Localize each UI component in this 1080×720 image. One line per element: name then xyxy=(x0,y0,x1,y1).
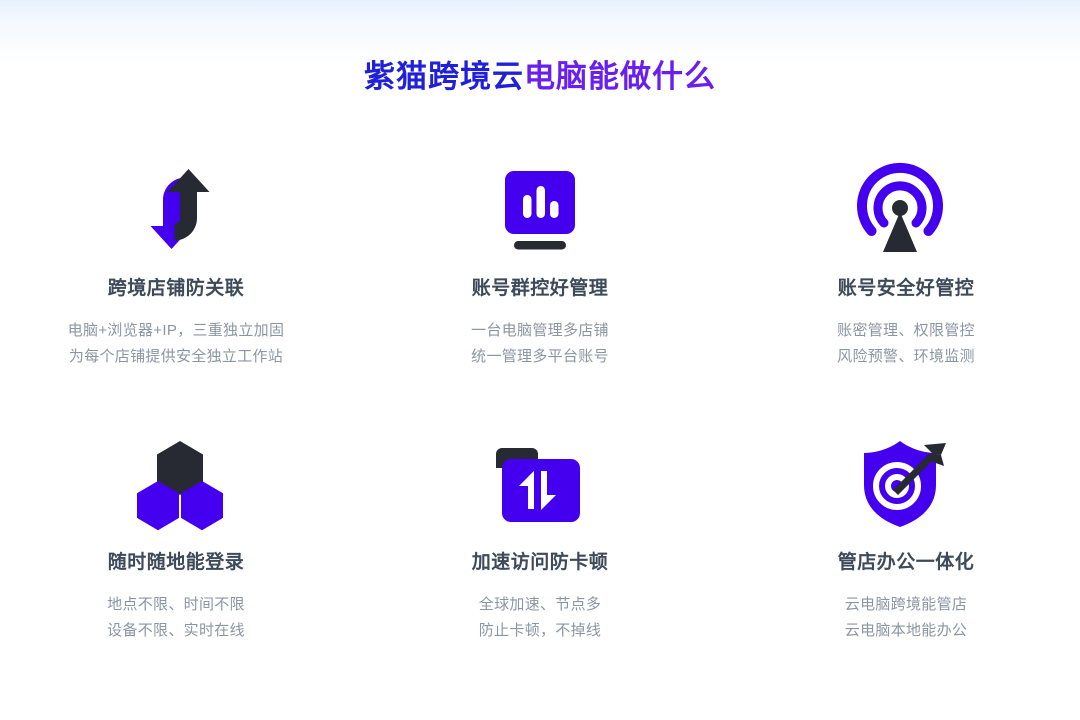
feature-desc-line-2: 防止卡顿，不掉线 xyxy=(479,618,601,644)
monitor-bar-chart-icon xyxy=(488,157,592,261)
page-title-part-2: 电脑能做什么 xyxy=(524,59,716,94)
feature-desc-line-1: 一台电脑管理多店铺 xyxy=(471,318,609,344)
feature-desc-line-1: 地点不限、时间不限 xyxy=(107,592,245,618)
feature-desc-line-1: 账密管理、权限管控 xyxy=(837,318,975,344)
feature-desc-line-1: 全球加速、节点多 xyxy=(479,592,601,618)
feature-desc-line-2: 设备不限、实时在线 xyxy=(107,618,245,644)
feature-description: 全球加速、节点多 防止卡顿，不掉线 xyxy=(479,592,601,644)
feature-description: 地点不限、时间不限 设备不限、实时在线 xyxy=(107,592,245,644)
feature-card-acceleration[interactable]: 加速访问防卡顿 全球加速、节点多 防止卡顿，不掉线 xyxy=(360,431,720,705)
feature-card-account-group-control[interactable]: 账号群控好管理 一台电脑管理多店铺 统一管理多平台账号 xyxy=(360,157,720,431)
feature-description: 一台电脑管理多店铺 统一管理多平台账号 xyxy=(471,318,609,370)
feature-description: 云电脑跨境能管店 云电脑本地能办公 xyxy=(845,592,967,644)
feature-title: 管店办公一体化 xyxy=(838,551,975,576)
feature-title: 跨境店铺防关联 xyxy=(108,277,245,302)
feature-title: 随时随地能登录 xyxy=(108,551,245,576)
feature-desc-line-2: 为每个店铺提供安全独立工作站 xyxy=(68,344,285,370)
folder-transfer-icon xyxy=(488,431,592,535)
feature-card-account-security[interactable]: 账号安全好管控 账密管理、权限管控 风险预警、环境监测 xyxy=(720,157,1080,431)
feature-card-login-anywhere[interactable]: 随时随地能登录 地点不限、时间不限 设备不限、实时在线 xyxy=(0,431,360,705)
hexagon-cluster-icon xyxy=(128,431,232,535)
feature-title: 账号群控好管理 xyxy=(472,277,609,302)
page-title-part-1: 紫猫跨境云 xyxy=(364,59,524,94)
feature-desc-line-1: 电脑+浏览器+IP，三重独立加固 xyxy=(68,318,285,344)
shield-target-dart-icon xyxy=(848,431,952,535)
feature-desc-line-2: 统一管理多平台账号 xyxy=(471,344,609,370)
feature-card-anti-association[interactable]: 跨境店铺防关联 电脑+浏览器+IP，三重独立加固 为每个店铺提供安全独立工作站 xyxy=(0,157,360,431)
feature-description: 电脑+浏览器+IP，三重独立加固 为每个店铺提供安全独立工作站 xyxy=(68,318,285,370)
feature-desc-line-1: 云电脑跨境能管店 xyxy=(845,592,967,618)
feature-section: 紫猫跨境云电脑能做什么 跨境店铺防关联 电脑+浏览器+IP，三重独立加固 为每个… xyxy=(0,0,1080,720)
feature-desc-line-2: 风险预警、环境监测 xyxy=(837,344,975,370)
feature-card-integrated-office[interactable]: 管店办公一体化 云电脑跨境能管店 云电脑本地能办公 xyxy=(720,431,1080,705)
feature-title: 账号安全好管控 xyxy=(838,277,975,302)
feature-desc-line-2: 云电脑本地能办公 xyxy=(845,618,967,644)
feature-description: 账密管理、权限管控 风险预警、环境监测 xyxy=(837,318,975,370)
transfer-arrows-icon xyxy=(128,157,232,261)
broadcast-tower-icon xyxy=(848,157,952,261)
page-title: 紫猫跨境云电脑能做什么 xyxy=(0,58,1080,95)
feature-title: 加速访问防卡顿 xyxy=(472,551,609,576)
feature-grid: 跨境店铺防关联 电脑+浏览器+IP，三重独立加固 为每个店铺提供安全独立工作站 … xyxy=(0,157,1080,705)
